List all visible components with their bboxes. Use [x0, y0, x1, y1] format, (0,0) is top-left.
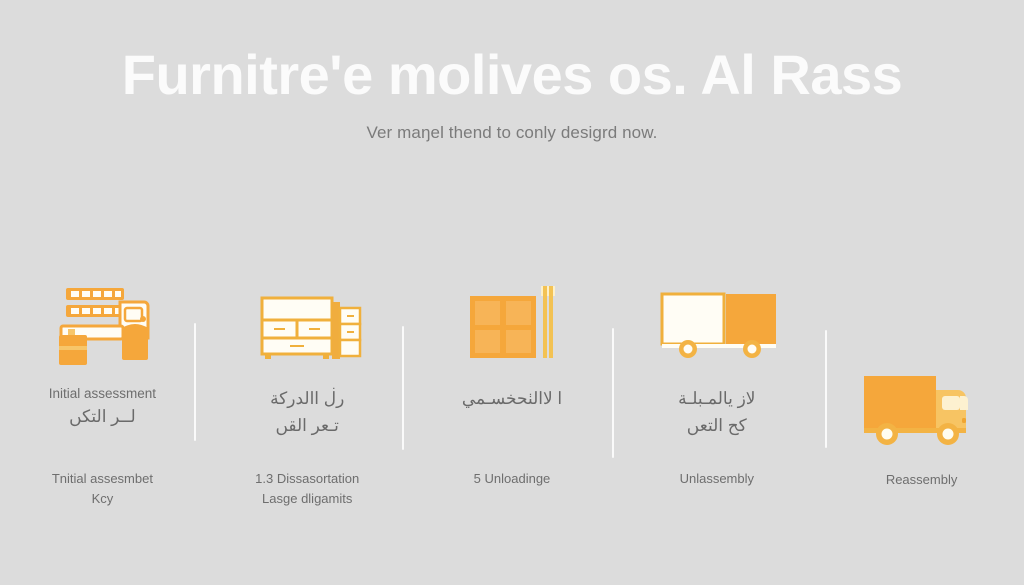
page-title: Furnitre'e molives os. Al Rass — [0, 44, 1024, 107]
step-item-unloading[interactable]: ا لاالٺحخسـمي 5 Unloadinge — [410, 265, 615, 540]
step-label-ar-2: تـعر القں — [211, 414, 404, 439]
step-labels: Initial assessment لــر التكں Tnitial as… — [0, 385, 205, 508]
step-item-disassembly[interactable]: رڶ االدركة تـعر القں 1.3 Dissasortation … — [205, 265, 410, 540]
header: Furnitre'e molives os. Al Rass Ver maŋel… — [0, 44, 1024, 143]
step-label-ar: رڶ االدركة — [211, 387, 404, 412]
step-label-ar: ا لاالٺحخسـمي — [416, 387, 609, 412]
process-steps: Initial assessment لــر التكں Tnitial as… — [0, 265, 1024, 540]
step-sublabel-line1: Tnitial assesmbet — [6, 469, 199, 489]
step-sublabel-line2: Lasge dligamits — [211, 489, 404, 509]
step-labels: رڶ االدركة تـعر القں 1.3 Dissasortation … — [205, 385, 410, 508]
slide-canvas: Furnitre'e molives os. Al Rass Ver maŋel… — [0, 0, 1024, 585]
step-sublabel-line2: Kcy — [6, 489, 199, 509]
page-subtitle: Ver maŋel thend to conly desigrd now. — [0, 123, 1024, 143]
step-label-en: Initial assessment — [6, 385, 199, 403]
box-truck-icon — [614, 265, 819, 385]
step-labels: Reassembly — [819, 470, 1024, 490]
step-item-unassembly[interactable]: لاز يالمـبلـة كح التعں Unlassembly — [614, 265, 819, 540]
step-sublabel-line1: Reassembly — [825, 470, 1018, 490]
step-label-ar: لاز يالمـبلـة — [620, 387, 813, 412]
step-labels: لاز يالمـبلـة كح التعں Unlassembly — [614, 385, 819, 489]
step-item-initial-assessment[interactable]: Initial assessment لــر التكں Tnitial as… — [0, 265, 205, 540]
step-labels: ا لاالٺحخسـمي 5 Unloadinge — [410, 385, 615, 489]
step-sublabel-line1: 1.3 Dissasortation — [211, 469, 404, 489]
step-label-ar: لــر التكں — [6, 405, 199, 430]
step-label-ar-2: كح التعں — [620, 414, 813, 439]
window-panel-icon — [410, 265, 615, 385]
step-sublabel-line1: 5 Unloadinge — [416, 469, 609, 489]
delivery-truck-icon — [819, 265, 1024, 470]
dresser-furniture-icon — [205, 265, 410, 385]
step-item-reassembly[interactable]: Reassembly — [819, 265, 1024, 540]
step-sublabel-line1: Unlassembly — [620, 469, 813, 489]
loading-truck-icon — [0, 265, 205, 385]
